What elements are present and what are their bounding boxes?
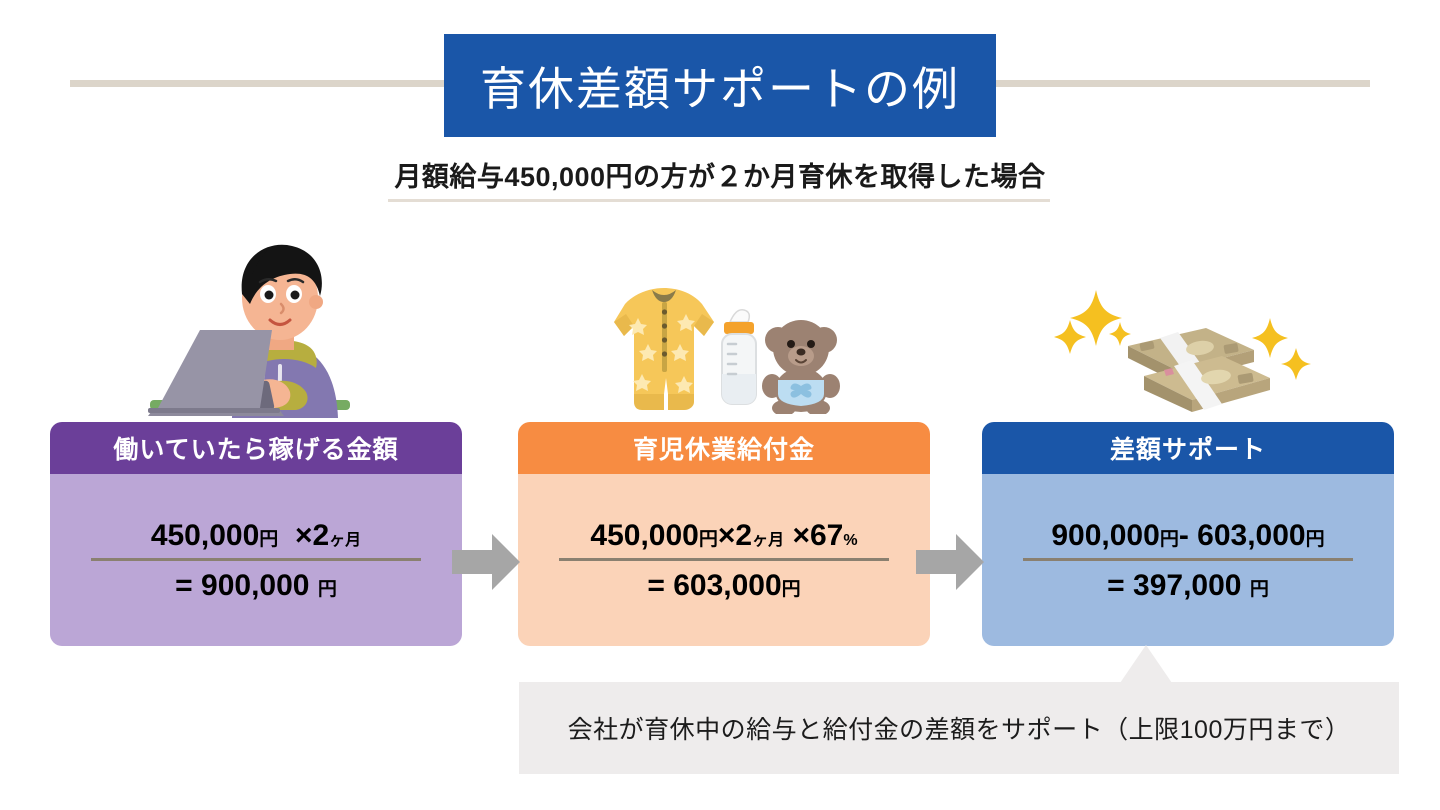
flow-arrow-icon-1 <box>452 528 520 596</box>
formula-top-difference-support: 900,000円- 603,000円 <box>1051 519 1324 558</box>
formula-unit-yen-2: 円 <box>1306 529 1325 550</box>
teddy-bear-icon <box>762 320 840 414</box>
formula-result: = 603,000 <box>647 569 781 602</box>
formula-bottom-working-income: = 900,000 円 <box>175 561 337 602</box>
card-childcare-benefit: 育児休業給付金 450,000円×2ヶ月 ×67% = 603,000円 <box>518 422 930 646</box>
card-header-childcare-benefit: 育児休業給付金 <box>518 422 930 474</box>
card-working-income: 働いていたら稼げる金額 450,000円 ×2ヶ月 = 900,000 円 <box>50 422 462 646</box>
formula-amount: 450,000 <box>590 519 698 552</box>
infographic-slide: 育休差額サポートの例 月額給与450,000円の方が２か月育休を取得した場合 <box>0 0 1440 810</box>
formula-bottom-difference-support: = 397,000 円 <box>1107 561 1269 602</box>
formula-amount: 450,000 <box>151 519 259 552</box>
formula-unit-percent: % <box>843 532 857 549</box>
baby-bottle-icon <box>722 310 756 404</box>
formula-result-unit: 円 <box>782 579 801 600</box>
card-difference-support: 差額サポート 900,000円- 603,000円 = 397,000 円 <box>982 422 1394 646</box>
baby-onesie-icon <box>614 288 714 410</box>
page-title: 育休差額サポートの例 <box>480 53 960 119</box>
formula-top-working-income: 450,000円 ×2ヶ月 <box>151 519 361 558</box>
formula-unit-yen: 円 <box>1160 529 1179 550</box>
card-header-difference-support: 差額サポート <box>982 422 1394 474</box>
formula-top-childcare-benefit: 450,000円×2ヶ月 ×67% <box>590 519 857 558</box>
flow-arrow-icon-2 <box>916 528 984 596</box>
title-banner: 育休差額サポートの例 <box>444 34 996 137</box>
card-body-working-income: 450,000円 ×2ヶ月 = 900,000 円 <box>50 474 462 646</box>
formula-unit-yen: 円 <box>699 529 718 550</box>
subtitle-text: 月額給与450,000円の方が２か月育休を取得した場合 <box>0 155 1440 194</box>
formula-bottom-childcare-benefit: = 603,000円 <box>647 561 800 602</box>
formula-unit-months: ヶ月 <box>329 532 361 549</box>
formula-subtrahend: - 603,000 <box>1179 519 1306 552</box>
person-at-laptop-illustration <box>140 232 370 423</box>
money-stack-illustration <box>1048 280 1314 417</box>
formula-result-unit: 円 <box>1250 579 1269 600</box>
formula-unit-months: ヶ月 <box>752 532 784 549</box>
footer-note: 会社が育休中の給与と給付金の差額をサポート（上限100万円まで） <box>519 682 1399 774</box>
formula-multiplier: ×2 <box>295 519 329 552</box>
formula-result: = 900,000 <box>175 569 309 602</box>
formula-result: = 397,000 <box>1107 569 1241 602</box>
card-body-difference-support: 900,000円- 603,000円 = 397,000 円 <box>982 474 1394 646</box>
formula-unit-yen: 円 <box>259 529 278 550</box>
baby-items-illustration <box>592 282 854 419</box>
formula-multiplier: ×2 <box>718 519 752 552</box>
formula-rate: ×67 <box>792 519 843 552</box>
formula-amount: 900,000 <box>1051 519 1159 552</box>
card-header-working-income: 働いていたら稼げる金額 <box>50 422 462 474</box>
card-body-childcare-benefit: 450,000円×2ヶ月 ×67% = 603,000円 <box>518 474 930 646</box>
formula-result-unit: 円 <box>318 579 337 600</box>
subtitle-divider-rule <box>388 199 1050 202</box>
callout-pointer <box>1120 645 1172 683</box>
